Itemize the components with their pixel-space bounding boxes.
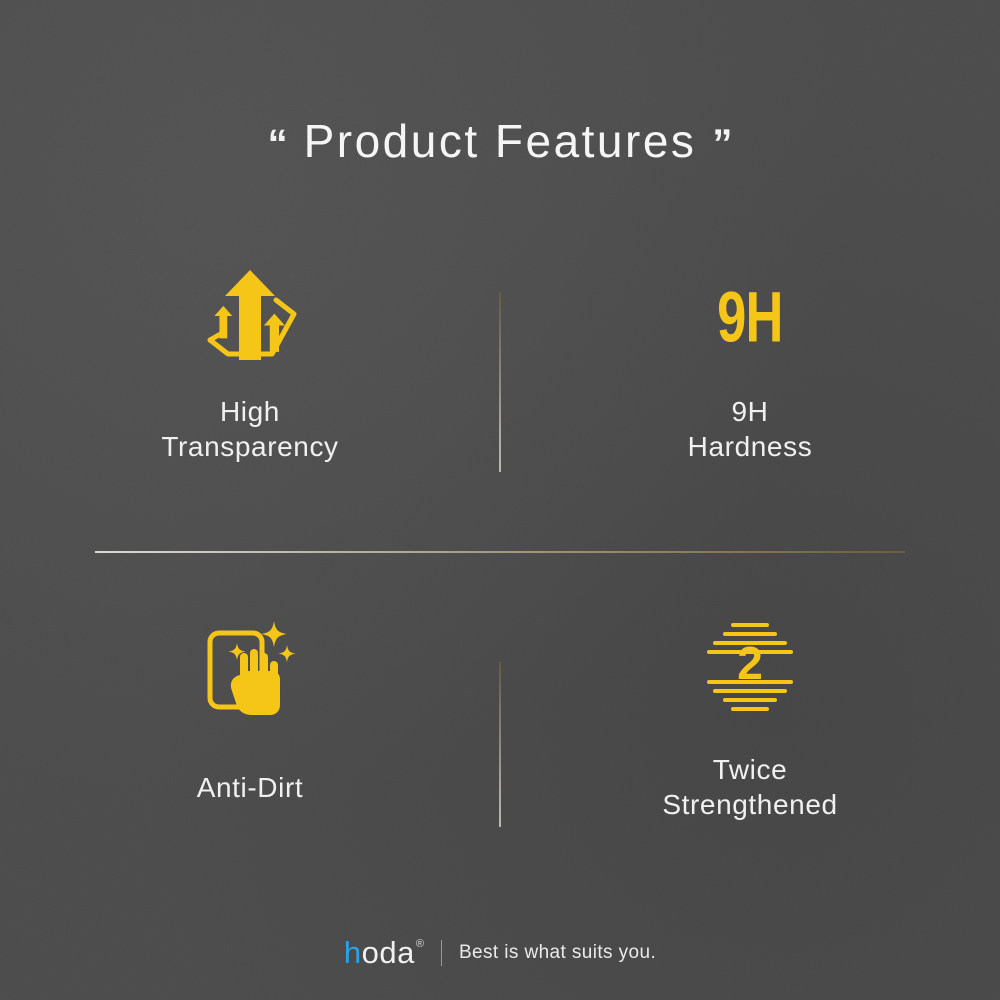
quote-open-icon: “ — [268, 124, 288, 164]
feature-high-transparency: High Transparency — [0, 262, 500, 492]
hoda-logo[interactable]: hoda® — [344, 937, 424, 968]
page-title: “Product Features” — [0, 118, 1000, 164]
logo-letter-h: h — [344, 937, 362, 968]
footer-separator — [441, 940, 442, 966]
vertical-divider-bottom — [499, 662, 501, 827]
vertical-divider-top — [499, 292, 501, 472]
footer-branding: hoda® Best is what suits you. — [0, 937, 1000, 968]
feature-label: Twice Strengthened — [662, 752, 837, 823]
feature-twice-strengthened: 2 Twice Strengthened — [500, 612, 1000, 842]
hand-sparkle-screen-icon — [204, 619, 296, 715]
infographic-page: “Product Features” High Transparency — [0, 0, 1000, 1000]
feature-label: Anti-Dirt — [197, 770, 304, 805]
feature-anti-dirt: Anti-Dirt — [0, 612, 500, 842]
footer-tagline: Best is what suits you. — [459, 942, 656, 964]
arrows-through-glass-icon — [198, 270, 302, 364]
quote-close-icon: ” — [712, 124, 732, 164]
number-two-layers-icon: 2 — [703, 621, 797, 713]
icon-container — [198, 262, 302, 372]
svg-text:2: 2 — [737, 637, 763, 689]
registered-trademark-icon: ® — [416, 939, 424, 950]
feature-label: High Transparency — [161, 394, 338, 465]
icon-container: 2 — [703, 612, 797, 722]
page-title-text: Product Features — [304, 118, 697, 164]
feature-label: 9H Hardness — [688, 394, 813, 465]
logo-letters-oda: oda — [362, 937, 415, 968]
feature-9h-hardness: 9H 9H Hardness — [500, 262, 1000, 492]
icon-container — [204, 612, 296, 722]
icon-container: 9H — [710, 262, 790, 372]
horizontal-divider — [95, 551, 905, 553]
9h-badge-icon: 9H — [717, 281, 782, 353]
